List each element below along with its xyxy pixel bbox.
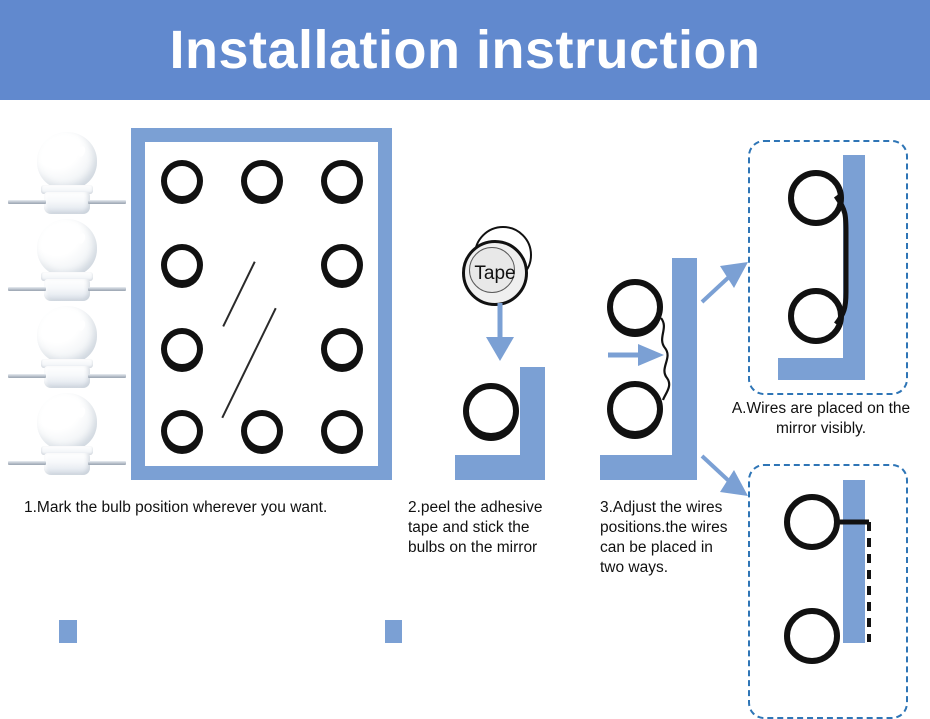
bulb-lead-left bbox=[8, 200, 46, 204]
bulb-lead-right bbox=[88, 461, 126, 465]
bulb-position-mark-icon bbox=[321, 160, 363, 202]
page-title: Installation instruction bbox=[169, 23, 760, 77]
light-bulb-icon bbox=[8, 219, 126, 307]
bulb-lead-left bbox=[8, 461, 46, 465]
mirror-reflection-line bbox=[221, 308, 276, 419]
bulb-lead-right bbox=[88, 287, 126, 291]
light-bulb-icon bbox=[8, 306, 126, 394]
bulb-position-mark-icon bbox=[161, 328, 203, 370]
bulb-position-mark-icon bbox=[161, 244, 203, 286]
bulb-position-mark-icon bbox=[463, 383, 519, 439]
bulb-base bbox=[44, 366, 90, 388]
bulb-stack bbox=[8, 132, 126, 480]
bulb-globe bbox=[37, 393, 97, 451]
bulb-position-mark-icon bbox=[241, 160, 283, 202]
bulb-base bbox=[44, 453, 90, 475]
light-bulb-icon bbox=[8, 132, 126, 220]
bulb-lead-right bbox=[88, 374, 126, 378]
mirror-glass bbox=[145, 142, 378, 466]
option-a-caption: A.Wires are placed on the mirror visibly… bbox=[712, 399, 930, 439]
bulb-position-mark-icon bbox=[241, 410, 283, 452]
bulb-globe bbox=[37, 132, 97, 190]
tape-roll-icon: Tape bbox=[462, 226, 534, 302]
bottom-stub-right bbox=[385, 620, 402, 643]
tape-label: Tape bbox=[474, 264, 515, 283]
bottom-stub-left bbox=[59, 620, 77, 643]
light-bulb-icon bbox=[8, 393, 126, 481]
page-header: Installation instruction bbox=[0, 0, 930, 100]
bulb-position-mark-icon bbox=[161, 410, 203, 452]
step-3-caption: 3.Adjust the wires positions.the wires c… bbox=[600, 498, 750, 578]
bulb-globe bbox=[37, 219, 97, 277]
bulb-position-mark-icon bbox=[784, 608, 840, 664]
bulb-base bbox=[44, 279, 90, 301]
visible-wire-icon bbox=[832, 196, 854, 326]
bulb-lead-left bbox=[8, 374, 46, 378]
arrow-right-icon bbox=[608, 342, 666, 368]
mirror-horizontal-bar bbox=[778, 358, 865, 380]
arrow-down-icon bbox=[482, 303, 518, 363]
step-1-caption: 1.Mark the bulb position wherever you wa… bbox=[24, 498, 394, 518]
mirror-horizontal-bar bbox=[455, 455, 545, 480]
tape-roll-front-ring: Tape bbox=[462, 240, 528, 306]
bulb-lead-left bbox=[8, 287, 46, 291]
step-2-caption: 2.peel the adhesive tape and stick the b… bbox=[408, 498, 598, 558]
mirror-frame-icon bbox=[131, 128, 392, 480]
arrow-down-right-icon bbox=[700, 452, 752, 502]
mirror-horizontal-bar bbox=[600, 455, 697, 480]
arrow-up-right-icon bbox=[700, 256, 752, 306]
installation-instruction-page: Installation instruction bbox=[0, 0, 930, 643]
mirror-reflection-line bbox=[222, 261, 255, 326]
bulb-position-mark-icon bbox=[321, 328, 363, 370]
bulb-position-mark-icon bbox=[784, 494, 840, 550]
hidden-wire-icon bbox=[834, 514, 878, 644]
bulb-position-mark-icon bbox=[161, 160, 203, 202]
bulb-position-mark-icon bbox=[321, 410, 363, 452]
bulb-globe bbox=[37, 306, 97, 364]
bulb-base bbox=[44, 192, 90, 214]
bulb-lead-right bbox=[88, 200, 126, 204]
bulb-position-mark-icon bbox=[321, 244, 363, 286]
